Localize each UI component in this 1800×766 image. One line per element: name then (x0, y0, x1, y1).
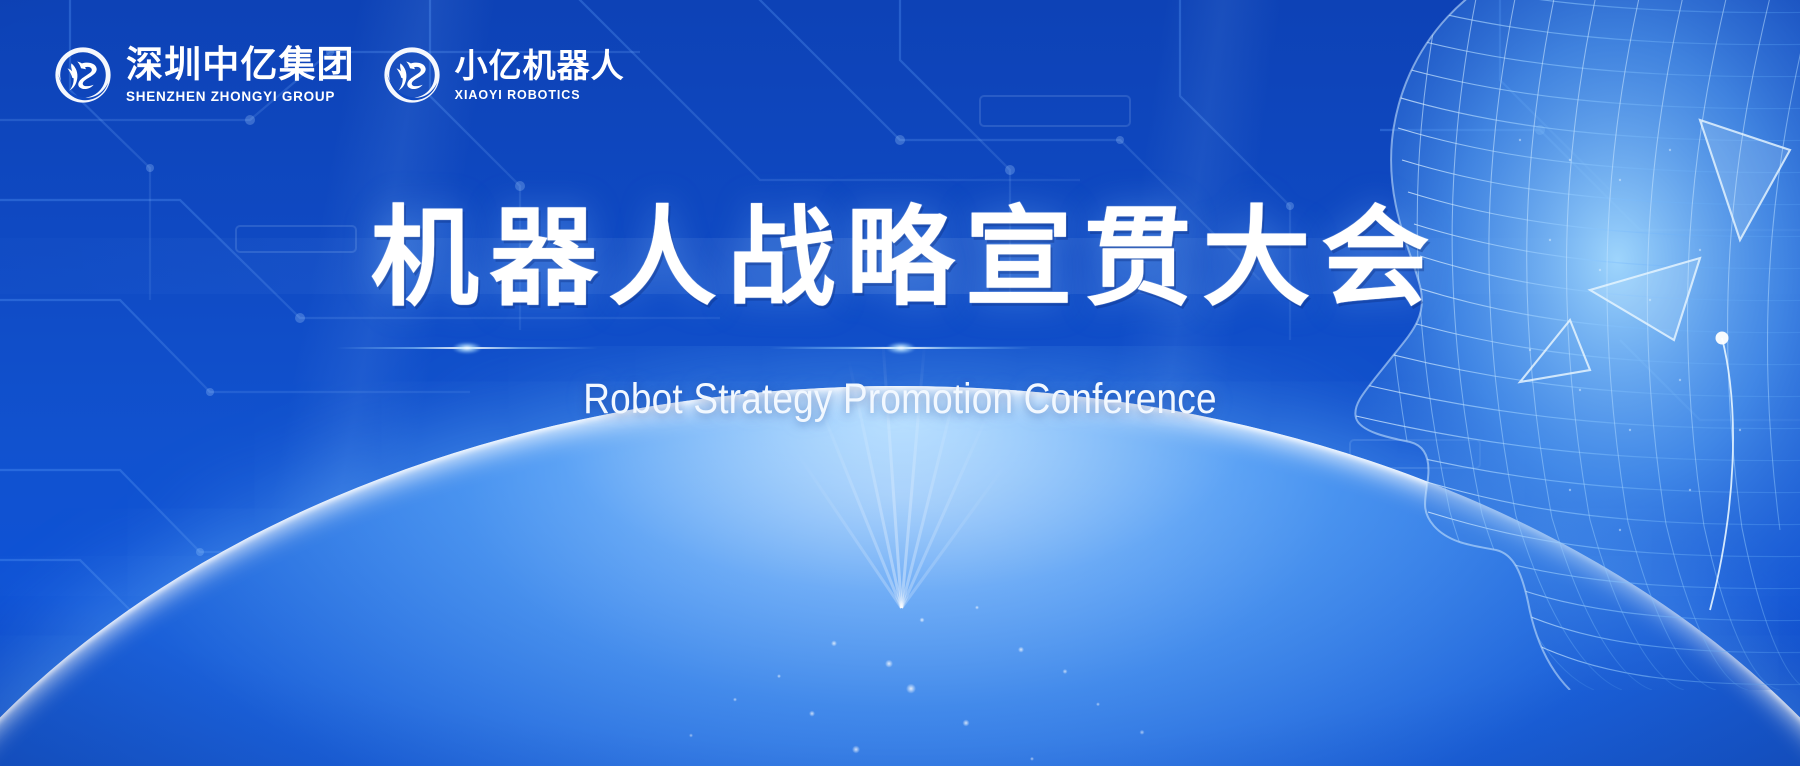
logo-cn-name: 深圳中亿集团 (126, 46, 355, 83)
decorative-divider (0, 331, 1800, 365)
conference-banner: 深圳中亿集团 SHENZHEN ZHONGYI GROUP 小亿机器人 XIAO… (0, 0, 1800, 766)
logo-xiaoyi-robotics[interactable]: 小亿机器人 XIAOYI ROBOTICS (381, 44, 625, 106)
page-title: 机器人战略宣贯大会 (0, 196, 1800, 321)
xiaoyi-emblem-icon (381, 44, 443, 106)
title-block: 机器人战略宣贯大会 Robot Strategy Promotion Confe… (0, 196, 1800, 424)
logo-en-name: XIAOYI ROBOTICS (455, 89, 625, 102)
light-streak-left (336, 347, 598, 349)
logo-bar: 深圳中亿集团 SHENZHEN ZHONGYI GROUP 小亿机器人 XIAO… (52, 44, 625, 106)
logo-shenzhen-zhongyi-group[interactable]: 深圳中亿集团 SHENZHEN ZHONGYI GROUP (52, 44, 355, 106)
light-streak-right (770, 347, 1032, 349)
zhongyi-emblem-icon (52, 44, 114, 106)
page-subtitle: Robot Strategy Promotion Conference (126, 375, 1674, 424)
logo-en-name: SHENZHEN ZHONGYI GROUP (126, 90, 355, 104)
logo-cn-name: 小亿机器人 (455, 49, 625, 82)
